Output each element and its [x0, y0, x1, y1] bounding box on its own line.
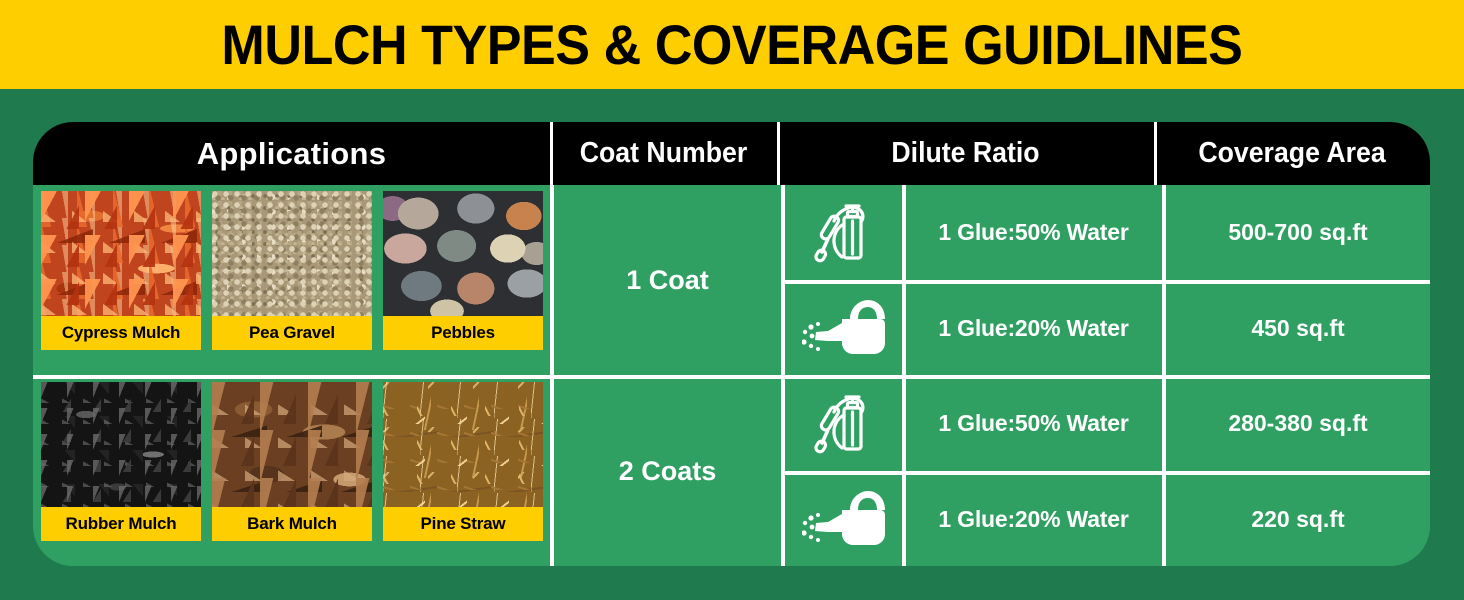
- application-card[interactable]: Bark Mulch: [212, 382, 372, 541]
- pump-sprayer-icon: [785, 185, 905, 280]
- coverage-area-value: 280-380 sq.ft: [1166, 376, 1430, 471]
- applications-row-2: Rubber Mulch Bark Mulch Pine Straw: [33, 376, 550, 566]
- row-divider-1: [781, 280, 1430, 284]
- application-card[interactable]: Pebbles: [383, 191, 543, 350]
- watering-can-icon: [785, 472, 905, 566]
- cypress-mulch-image: [41, 191, 201, 316]
- title-banner: MULCH TYPES & COVERAGE GUIDLINES: [0, 0, 1464, 89]
- header-divider-3: [1154, 122, 1157, 185]
- pebbles-image: [383, 191, 543, 316]
- application-card[interactable]: Cypress Mulch: [41, 191, 201, 350]
- column-header-coat-number: Coat Number: [559, 122, 768, 185]
- header-divider-2: [777, 122, 780, 185]
- applications-row-1: Cypress Mulch Pea Gravel Pebbles: [33, 185, 550, 375]
- column-header-coverage-area: Coverage Area: [1165, 122, 1419, 185]
- application-card-label: Pea Gravel: [212, 316, 372, 350]
- dilute-ratio-row: 1 Glue:20% Water: [785, 281, 1162, 376]
- row-divider-3: [781, 471, 1430, 475]
- watering-can-icon: [785, 281, 905, 376]
- coverage-area-value: 500-700 sq.ft: [1166, 185, 1430, 280]
- pump-sprayer-icon: [785, 376, 905, 471]
- bark-mulch-image: [212, 382, 372, 507]
- mulch-coverage-table: Applications Coat Number Dilute Ratio Co…: [33, 122, 1430, 566]
- application-card-label: Pine Straw: [383, 507, 543, 541]
- rubber-mulch-image: [41, 382, 201, 507]
- application-card[interactable]: Rubber Mulch: [41, 382, 201, 541]
- dilute-ratio-value: 1 Glue:50% Water: [905, 410, 1162, 437]
- infographic-page: MULCH TYPES & COVERAGE GUIDLINES Applica…: [0, 0, 1464, 600]
- table-body: Cypress Mulch Pea Gravel Pebbles Rubber: [33, 185, 1430, 566]
- application-card-label: Rubber Mulch: [41, 507, 201, 541]
- coverage-area-value: 450 sq.ft: [1166, 281, 1430, 376]
- dilute-ratio-row: 1 Glue:20% Water: [785, 472, 1162, 566]
- coverage-area-value: 220 sq.ft: [1166, 472, 1430, 566]
- header-divider-1: [550, 122, 553, 185]
- application-card-label: Pebbles: [383, 316, 543, 350]
- dilute-ratio-row: 1 Glue:50% Water: [785, 376, 1162, 471]
- coat-number-cell: 1 Coat: [554, 185, 781, 375]
- column-header-dilute-ratio: Dilute Ratio: [792, 122, 1139, 185]
- application-card-label: Cypress Mulch: [41, 316, 201, 350]
- dilute-ratio-row: 1 Glue:50% Water: [785, 185, 1162, 280]
- application-card[interactable]: Pea Gravel: [212, 191, 372, 350]
- application-card-label: Bark Mulch: [212, 507, 372, 541]
- dilute-ratio-value: 1 Glue:20% Water: [905, 315, 1162, 342]
- table-header-row: Applications Coat Number Dilute Ratio Co…: [33, 122, 1430, 185]
- column-header-applications: Applications: [33, 122, 550, 185]
- pine-straw-image: [383, 382, 543, 507]
- page-title: MULCH TYPES & COVERAGE GUIDLINES: [221, 17, 1242, 73]
- dilute-ratio-value: 1 Glue:20% Water: [905, 506, 1162, 533]
- row-divider-main: [33, 375, 1430, 379]
- coat-number-cell: 2 Coats: [554, 376, 781, 566]
- dilute-ratio-value: 1 Glue:50% Water: [905, 219, 1162, 246]
- application-card[interactable]: Pine Straw: [383, 382, 543, 541]
- pea-gravel-image: [212, 191, 372, 316]
